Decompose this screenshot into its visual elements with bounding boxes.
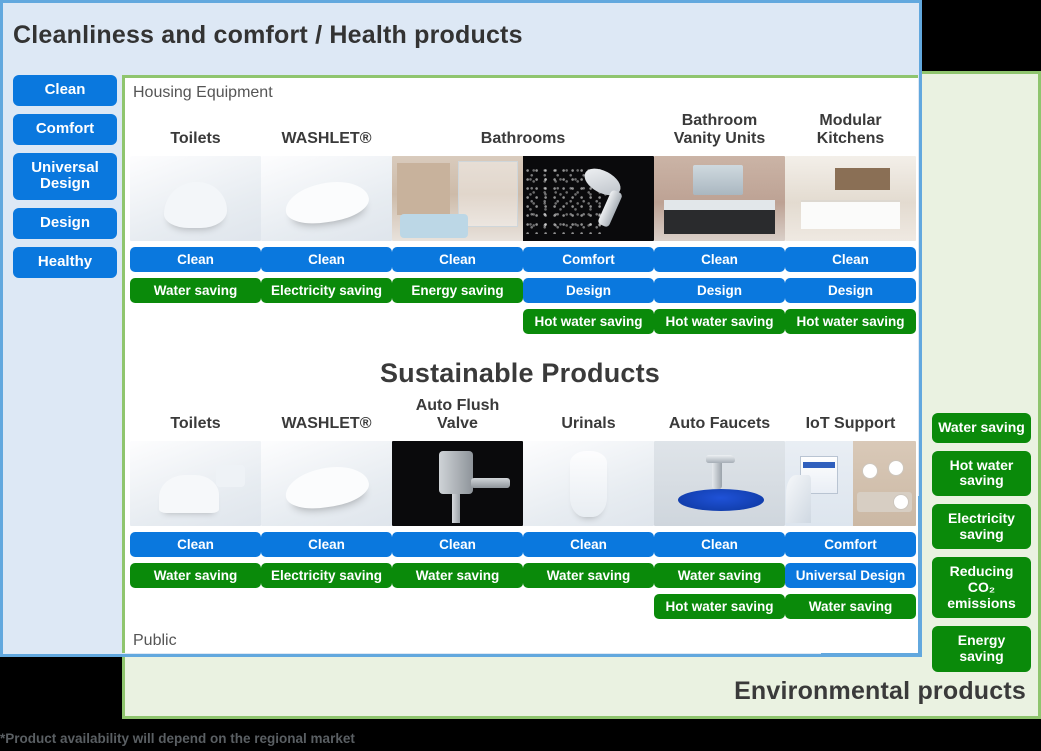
left-tag-comfort[interactable]: Comfort: [13, 114, 117, 145]
footnote: *Product availability will depend on the…: [0, 731, 355, 746]
tag-comfort[interactable]: Comfort: [523, 247, 654, 272]
screenshot-root: Environmental products Cleanliness and c…: [0, 0, 1041, 751]
product-image-washlet-seat: [261, 441, 392, 526]
public-products-row: Toilets Clean Water saving WASHLET® Clea…: [130, 397, 916, 619]
tag-clean[interactable]: Clean: [654, 532, 785, 557]
right-tag-water-saving[interactable]: Water saving: [932, 413, 1031, 443]
tag-design[interactable]: Design: [523, 278, 654, 303]
tag-clean[interactable]: Clean: [654, 247, 785, 272]
right-tag-reducing-co2[interactable]: Reducing CO₂ emissions: [932, 557, 1031, 618]
card-tags: Clean Energy saving: [392, 247, 523, 334]
tag-hot-water-saving[interactable]: Hot water saving: [523, 309, 654, 334]
card-public-iot-support[interactable]: IoT Support Comfort Universal D: [785, 397, 916, 619]
card-tags-secondary: Comfort Design Hot water saving: [523, 247, 654, 334]
card-title: Bathrooms: [392, 112, 654, 148]
tag-water-saving[interactable]: Water saving: [654, 563, 785, 588]
tag-clean[interactable]: Clean: [261, 532, 392, 557]
tag-design[interactable]: Design: [785, 278, 916, 303]
product-image-toilet-with-tank: [130, 441, 261, 526]
card-public-urinals[interactable]: Urinals Clean Water saving: [523, 397, 654, 619]
product-matrix-panel: Housing Equipment Toilets Clean Water sa…: [122, 75, 918, 653]
card-tags: Clean Water saving Hot water saving: [654, 532, 785, 619]
tag-electricity-saving[interactable]: Electricity saving: [261, 563, 392, 588]
right-attribute-tag-column: Water saving Hot water saving Electricit…: [932, 413, 1031, 672]
card-title: Auto Flush Valve: [392, 397, 523, 433]
tag-universal-design[interactable]: Universal Design: [785, 563, 916, 588]
product-image-bathroom-and-showerhead: [392, 156, 654, 241]
tag-clean[interactable]: Clean: [130, 532, 261, 557]
product-image-washlet-seat: [261, 156, 392, 241]
card-tags: Clean Design Hot water saving: [654, 247, 785, 334]
card-tags: Clean Water saving: [392, 532, 523, 588]
product-image-vanity-unit: [654, 156, 785, 241]
tag-design[interactable]: Design: [654, 278, 785, 303]
card-tags: Clean Water saving: [130, 247, 261, 303]
product-image-auto-faucet: [654, 441, 785, 526]
product-image-urinal: [523, 441, 654, 526]
card-title: WASHLET®: [261, 397, 392, 433]
tag-clean[interactable]: Clean: [130, 247, 261, 272]
card-tags: Clean Electricity saving: [261, 532, 392, 588]
card-title: Modular Kitchens: [785, 112, 916, 148]
tag-water-saving[interactable]: Water saving: [392, 563, 523, 588]
housing-equipment-row: Toilets Clean Water saving WASHLET® Clea…: [130, 112, 916, 334]
card-public-washlet[interactable]: WASHLET® Clean Electricity saving: [261, 397, 392, 619]
tag-water-saving[interactable]: Water saving: [130, 563, 261, 588]
card-public-auto-faucets[interactable]: Auto Faucets Clean Water saving Hot wate…: [654, 397, 785, 619]
housing-equipment-label: Housing Equipment: [125, 78, 918, 102]
tag-hot-water-saving[interactable]: Hot water saving: [785, 309, 916, 334]
product-image-toilet-tankless: [130, 156, 261, 241]
card-title: IoT Support: [785, 397, 916, 433]
tag-electricity-saving[interactable]: Electricity saving: [261, 278, 392, 303]
tag-water-saving[interactable]: Water saving: [785, 594, 916, 619]
left-tag-universal-design[interactable]: Universal Design: [13, 153, 117, 201]
card-title: Toilets: [130, 112, 261, 148]
tag-hot-water-saving[interactable]: Hot water saving: [654, 594, 785, 619]
card-housing-bathrooms[interactable]: Bathrooms Clean: [392, 112, 654, 334]
product-image-modular-kitchen: [785, 156, 916, 241]
card-tags: Clean Water saving: [130, 532, 261, 588]
card-title: Bathroom Vanity Units: [654, 112, 785, 148]
tag-clean[interactable]: Clean: [523, 532, 654, 557]
tag-clean[interactable]: Clean: [785, 247, 916, 272]
card-tags: Comfort Universal Design Water saving: [785, 532, 916, 619]
card-housing-modular-kitchens[interactable]: Modular Kitchens Clean Design Hot water …: [785, 112, 916, 334]
card-title: Toilets: [130, 397, 261, 433]
card-title: Urinals: [523, 397, 654, 433]
card-title: WASHLET®: [261, 112, 392, 148]
product-image-auto-flush-valve: [392, 441, 523, 526]
sustainable-products-title: Sustainable Products: [125, 358, 915, 389]
page-title: Cleanliness and comfort / Health product…: [13, 21, 523, 50]
tag-clean[interactable]: Clean: [261, 247, 392, 272]
card-public-toilets[interactable]: Toilets Clean Water saving: [130, 397, 261, 619]
card-housing-toilets[interactable]: Toilets Clean Water saving: [130, 112, 261, 334]
left-tag-design[interactable]: Design: [13, 208, 117, 239]
left-tag-clean[interactable]: Clean: [13, 75, 117, 106]
card-housing-washlet[interactable]: WASHLET® Clean Electricity saving: [261, 112, 392, 334]
card-tags: Clean Electricity saving: [261, 247, 392, 303]
card-tags: Clean Design Hot water saving: [785, 247, 916, 334]
product-image-iot-dashboard-washroom: [785, 441, 916, 526]
tag-comfort[interactable]: Comfort: [785, 532, 916, 557]
right-tag-energy-saving[interactable]: Energy saving: [932, 626, 1031, 671]
card-title: Auto Faucets: [654, 397, 785, 433]
tag-clean[interactable]: Clean: [392, 532, 523, 557]
tag-hot-water-saving[interactable]: Hot water saving: [654, 309, 785, 334]
card-tags: Clean Water saving: [523, 532, 654, 588]
tag-water-saving[interactable]: Water saving: [130, 278, 261, 303]
card-public-auto-flush-valve[interactable]: Auto Flush Valve Clean Water saving: [392, 397, 523, 619]
public-label: Public: [125, 626, 177, 650]
environmental-products-title: Environmental products: [734, 677, 1026, 706]
tag-water-saving[interactable]: Water saving: [523, 563, 654, 588]
tag-energy-saving[interactable]: Energy saving: [392, 278, 523, 303]
tag-clean[interactable]: Clean: [392, 247, 523, 272]
left-attribute-tag-column: Clean Comfort Universal Design Design He…: [13, 75, 117, 278]
right-tag-hot-water-saving[interactable]: Hot water saving: [932, 451, 1031, 496]
right-tag-electricity-saving[interactable]: Electricity saving: [932, 504, 1031, 549]
left-tag-healthy[interactable]: Healthy: [13, 247, 117, 278]
card-housing-bathroom-vanity-units[interactable]: Bathroom Vanity Units Clean Design Hot w…: [654, 112, 785, 334]
